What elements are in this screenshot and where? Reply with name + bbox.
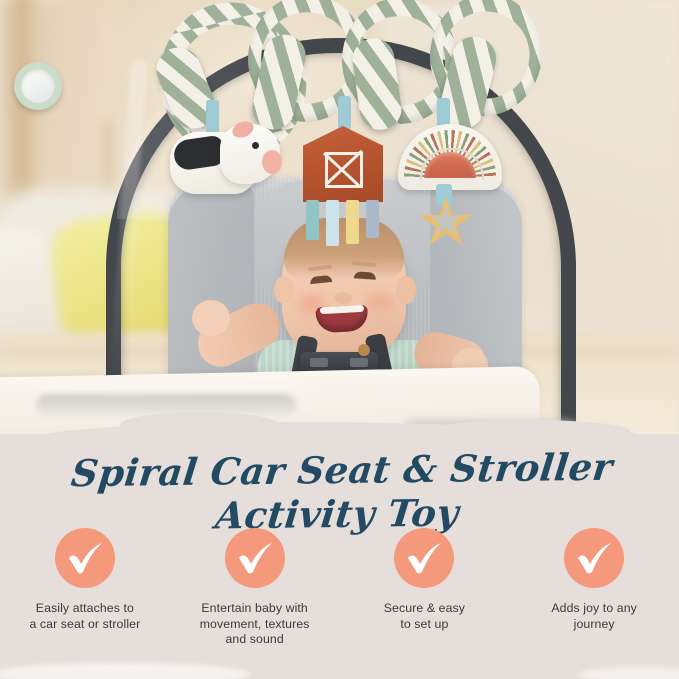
cow-snout [262, 150, 282, 174]
feature-line-1: Adds joy to any [551, 601, 637, 615]
buckle-button-right [350, 358, 368, 367]
feature-line-1: Entertain baby with [201, 601, 307, 615]
feature-caption: Secure & easy to set up [384, 601, 465, 632]
feature-line-2: to set up [400, 617, 448, 631]
page-title: Spiral Car Seat & Stroller Activity Toy [0, 444, 679, 540]
bottom-brush-stroke-left [0, 663, 250, 679]
baby-mirror [21, 69, 55, 103]
baby-hair [284, 218, 404, 280]
feature-item-entertain: Entertain baby with movement, textures a… [170, 528, 340, 648]
feature-caption: Adds joy to any journey [551, 601, 637, 632]
cow-plush-toy [170, 122, 280, 202]
ribbon-tag-lightblue [326, 200, 339, 246]
baby-hand-left [192, 300, 230, 336]
feature-item-attaches: Easily attaches to a car seat or strolle… [0, 528, 170, 648]
product-photo [0, 0, 679, 452]
feature-line-2: movement, textures [200, 617, 310, 631]
feature-caption: Entertain baby with movement, textures a… [200, 601, 310, 648]
ribbon-tag-bluegray [366, 200, 379, 238]
baby-cheek-right [366, 292, 394, 312]
feature-line-1: Secure & easy [384, 601, 465, 615]
baby-nose [334, 292, 352, 304]
torn-paper-bump-left [120, 412, 280, 438]
cow-eye [252, 142, 259, 149]
feature-item-joy: Adds joy to any journey [509, 528, 679, 648]
feature-line-3: and sound [225, 632, 283, 646]
check-icon [394, 528, 454, 588]
baby-ear-left [274, 276, 294, 304]
feature-line-2: journey [574, 617, 615, 631]
bottom-brush-stroke-right [579, 667, 679, 679]
ribbon-tag-teal [306, 200, 319, 240]
feature-line-1: Easily attaches to [36, 601, 134, 615]
check-icon [225, 528, 285, 588]
torn-paper-bump-far-right [520, 428, 640, 446]
outfit-button [358, 344, 370, 356]
product-marketing-image: Spiral Car Seat & Stroller Activity Toy … [0, 0, 679, 679]
check-icon [564, 528, 624, 588]
buckle-button-left [310, 358, 328, 367]
feature-line-2: a car seat or stroller [29, 617, 140, 631]
feature-list: Easily attaches to a car seat or strolle… [0, 528, 679, 648]
check-icon [55, 528, 115, 588]
hanging-ribbon-barn [338, 96, 351, 130]
baby-ear-right [396, 276, 416, 304]
feature-item-secure: Secure & easy to set up [340, 528, 510, 648]
feature-caption: Easily attaches to a car seat or strolle… [29, 601, 140, 632]
ribbon-tag-yellow [346, 200, 359, 244]
